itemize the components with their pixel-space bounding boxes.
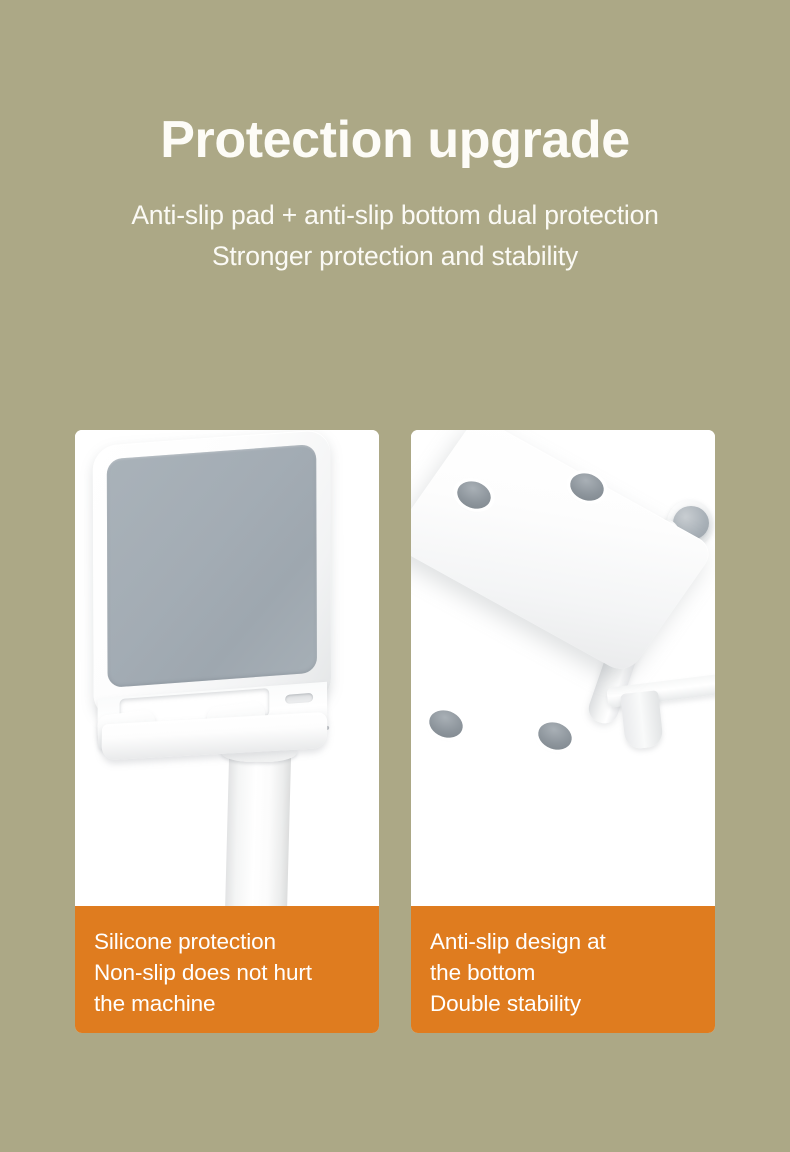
caption-line: Double stability (430, 988, 697, 1019)
subtitle-line-2: Stronger protection and stability (212, 241, 578, 271)
header: Protection upgrade Anti-slip pad + anti-… (0, 0, 790, 277)
feature-caption-silicone-protection: Silicone protection Non-slip does not hu… (75, 906, 379, 1033)
stand-backplate (93, 430, 331, 719)
product-photo-anti-slip-bottom (411, 430, 715, 906)
feature-caption-anti-slip-bottom: Anti-slip design at the bottom Double st… (411, 906, 715, 1033)
phone-stand-illustration (75, 430, 379, 906)
page-title: Protection upgrade (0, 0, 790, 169)
caption-line: Anti-slip design at (430, 926, 697, 957)
stand-backplate-assembly (93, 430, 331, 767)
stand-lower-tab (620, 690, 664, 750)
feature-card-anti-slip-bottom[interactable]: Anti-slip design at the bottom Double st… (411, 430, 715, 1033)
anti-slip-pad (423, 705, 468, 743)
caption-line: Non-slip does not hurt (94, 957, 361, 988)
caption-line: Silicone protection (94, 926, 361, 957)
silicone-pad (107, 444, 317, 688)
page-subtitle: Anti-slip pad + anti-slip bottom dual pr… (0, 169, 790, 277)
product-photo-silicone-pad (75, 430, 379, 906)
caption-line: the bottom (430, 957, 697, 988)
stand-baseplate (411, 430, 715, 676)
subtitle-line-1: Anti-slip pad + anti-slip bottom dual pr… (131, 200, 658, 230)
stand-pole (225, 750, 291, 906)
caption-line: the machine (94, 988, 361, 1019)
feature-card-silicone-protection[interactable]: Silicone protection Non-slip does not hu… (75, 430, 379, 1033)
stand-foot-indent (285, 693, 313, 704)
stand-base-illustration (411, 430, 715, 906)
feature-card-row: Silicone protection Non-slip does not hu… (75, 430, 715, 1033)
anti-slip-pad (532, 717, 577, 755)
